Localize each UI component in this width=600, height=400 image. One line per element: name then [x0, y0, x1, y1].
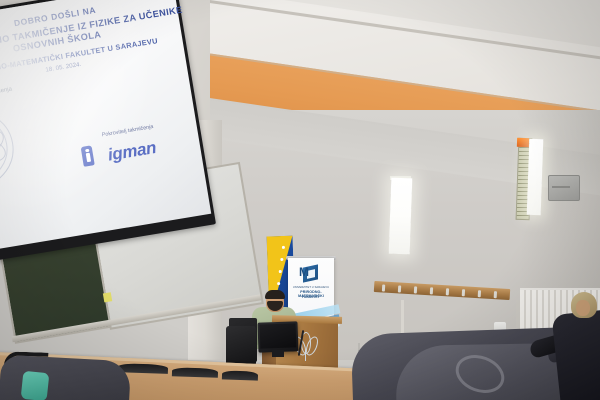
- wall-mounted-unit: [548, 175, 580, 201]
- coat-hook-icon: [462, 289, 465, 296]
- fluorescent-light-right: [527, 139, 544, 215]
- screen-surface: DOBRO DOŠLI NA XXII FEDERALNO TAKMIČENJE…: [0, 0, 211, 253]
- banner-faculty-line-2: FAKULTET: [288, 295, 334, 299]
- coat-hook-icon: [478, 290, 481, 297]
- lecture-hall-photo: DOBRO DOŠLI NA XXII FEDERALNO TAKMIČENJE…: [0, 0, 600, 400]
- chair-back: [222, 370, 258, 380]
- chair-back: [172, 367, 218, 378]
- sticky-note-icon: [103, 292, 112, 302]
- flag-star-icon: [279, 270, 282, 273]
- desktop-monitor: [257, 321, 298, 352]
- attendee-torso: [551, 309, 600, 400]
- coat-hook-icon: [494, 291, 497, 298]
- projection-screen: DOBRO DOŠLI NA XXII FEDERALNO TAKMIČENJE…: [0, 0, 216, 265]
- teal-item: [21, 371, 50, 400]
- monitor-screen: [260, 323, 297, 348]
- coat-hook-icon: [382, 284, 385, 291]
- screen-glare: [0, 0, 211, 253]
- pmf-logo-letter: M: [299, 265, 309, 279]
- light-warm-element: [517, 138, 529, 147]
- flag-star-icon: [280, 258, 283, 261]
- coat-hook-icon: [446, 288, 449, 295]
- attendee-face: [576, 300, 590, 316]
- coat-hook-icon: [414, 286, 417, 293]
- coat-hook-icon: [430, 287, 433, 294]
- speaker-hair: [265, 290, 285, 299]
- crest-stem: [305, 350, 306, 361]
- wall-unit-vent: [552, 186, 570, 188]
- flag-star-icon: [277, 282, 280, 285]
- black-bag-on-desk: [226, 326, 256, 366]
- flag-star-icon: [282, 246, 285, 249]
- fluorescent-light-left: [389, 178, 413, 255]
- monitor-stand: [272, 350, 284, 357]
- pmf-logo-icon: M: [299, 264, 323, 284]
- bag-left-foreground: [0, 355, 131, 400]
- coat-hook-icon: [398, 285, 401, 292]
- banner-university-line: UNIVERZITET U SARAJEVU: [288, 286, 334, 289]
